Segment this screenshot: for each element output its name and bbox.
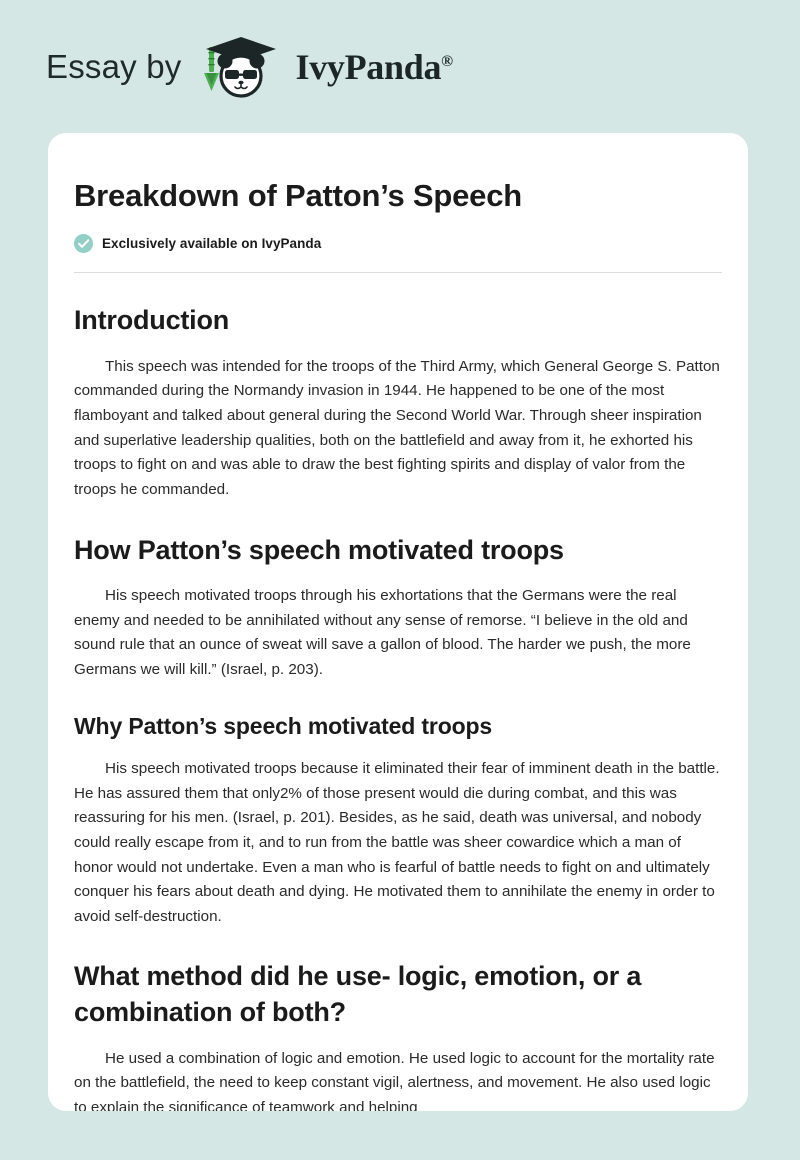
section-paragraph: This speech was intended for the troops … [74,355,722,503]
section-heading-what-method: What method did he use- logic, emotion, … [74,959,722,1030]
section-paragraph: His speech motivated troops through his … [74,584,722,683]
section-heading-why-speech-motivated: Why Patton’s speech motivated troops [74,711,722,741]
page-title: Breakdown of Patton’s Speech [74,177,722,214]
section-heading-introduction: Introduction [74,303,722,339]
brand-wordmark: IvyPanda® [296,49,453,85]
section-heading-how-speech-motivated: How Patton’s speech motivated troops [74,533,722,569]
brand-logo-row[interactable]: Essay by [46,35,453,99]
header-divider [74,272,722,273]
section-paragraph: His speech motivated troops because it e… [74,757,722,929]
brand-name-text: IvyPanda [296,47,442,87]
section-paragraph: He used a combination of logic and emoti… [74,1047,722,1111]
ivypanda-panda-graduate-logo [198,35,284,99]
essay-by-label: Essay by [46,50,182,83]
essay-paper-card: Breakdown of Patton’s Speech Exclusively… [48,133,748,1111]
exclusivity-badge-label: Exclusively available on IvyPanda [102,236,321,251]
check-circle-icon [74,234,93,253]
exclusivity-badge: Exclusively available on IvyPanda [74,234,722,253]
registered-trademark-icon: ® [441,53,453,70]
brand-header: Essay by [0,0,800,133]
